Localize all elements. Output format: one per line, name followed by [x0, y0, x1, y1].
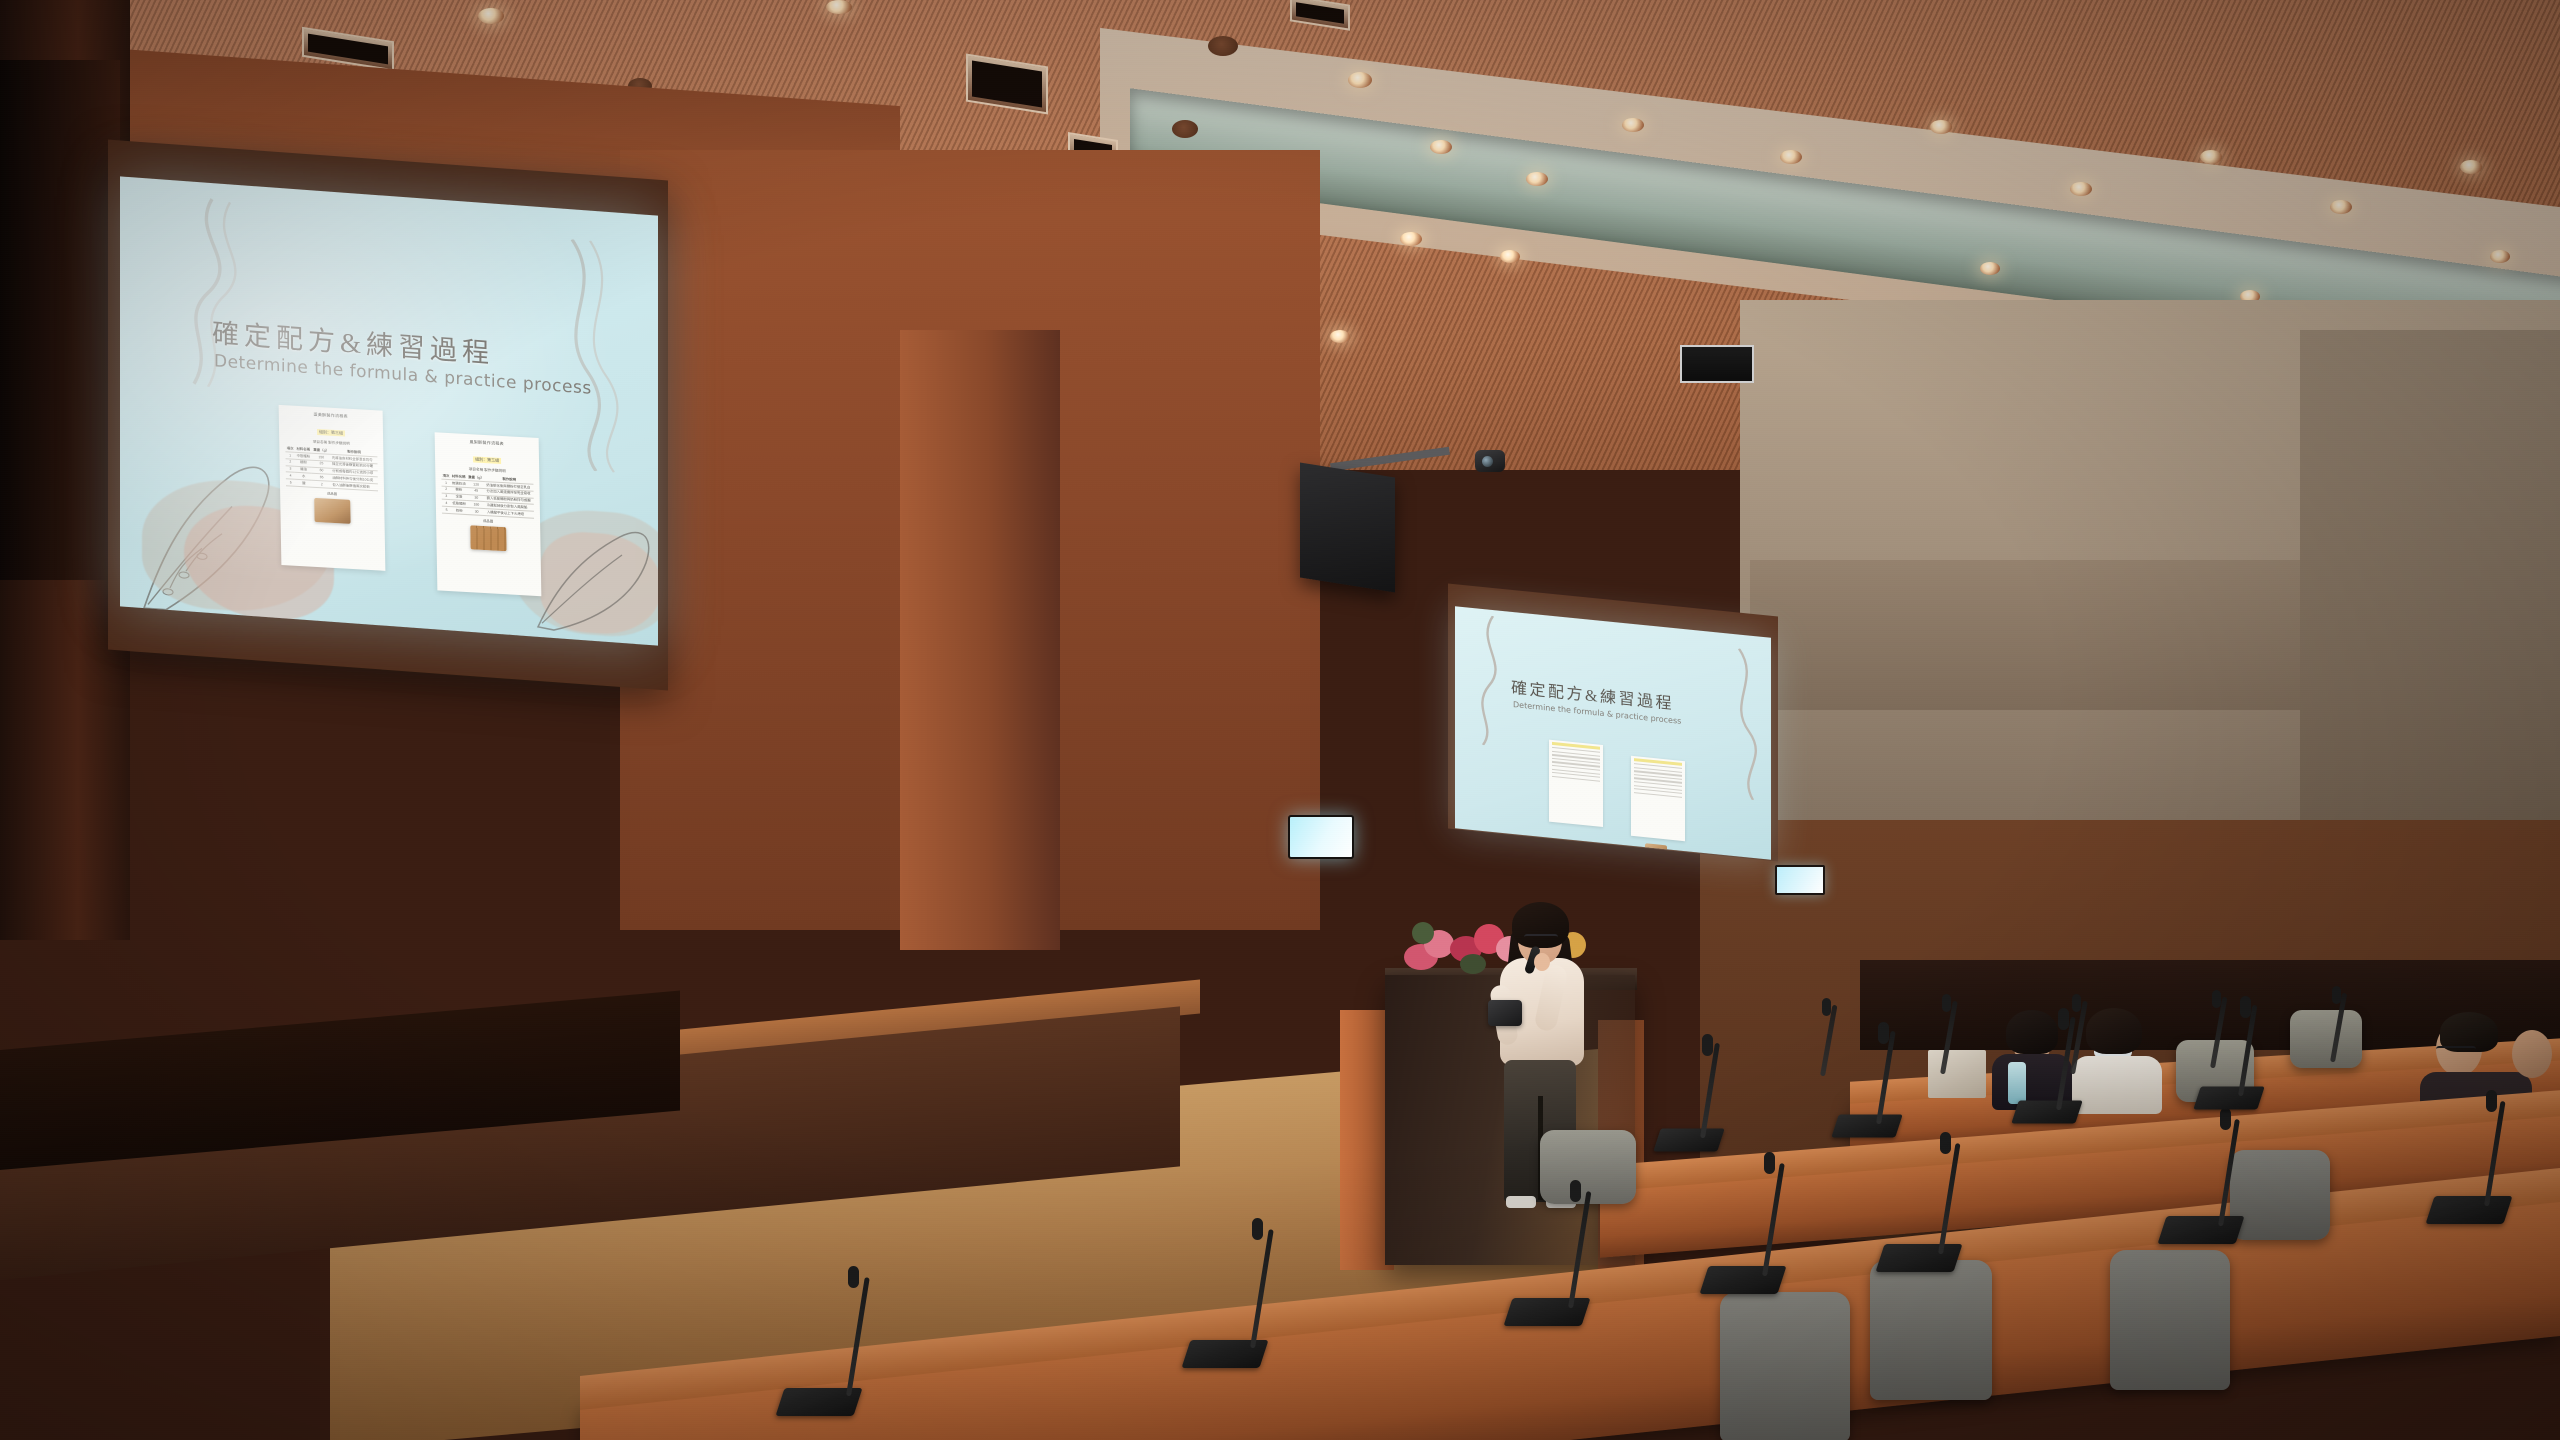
mic-console[interactable] [1831, 1115, 1902, 1138]
attendee-man-glasses-icon [2436, 1046, 2476, 1057]
presenter-shoe-left [1506, 1196, 1536, 1208]
secondary-recipe-sheet-left [1549, 740, 1603, 827]
microphone-capsule-icon [1878, 1022, 1889, 1044]
microphone-capsule-icon [2220, 1108, 2231, 1130]
ptz-camera-icon [1475, 450, 1505, 472]
water-bottle [2008, 1062, 2026, 1104]
mic-console[interactable] [1653, 1129, 1724, 1152]
ceiling-downlight [1780, 150, 1802, 164]
ceiling-downlight [2200, 150, 2222, 164]
left-wall-panel [0, 60, 120, 580]
presenter-hand [1534, 953, 1550, 971]
ceiling-downlight [1500, 250, 1520, 263]
monstera-leaf-outline-icon [528, 512, 658, 641]
recipe-sheet-right: 鳳梨酥製作流程表 組別：第三組 項目名稱 製作步驟說明 項次材料名稱重量（g）製… [435, 432, 542, 596]
ceiling-downlight [1430, 140, 1452, 154]
microphone-capsule-icon [2072, 994, 2081, 1012]
ceiling-downlight [826, 0, 852, 14]
attendee-masked-hair [2086, 1008, 2142, 1054]
microphone-capsule-icon [2486, 1090, 2497, 1112]
mic-console[interactable] [2157, 1216, 2244, 1244]
ceiling-downlight [2070, 182, 2092, 196]
attendee-bag [1928, 1050, 1986, 1098]
pastry-photo-right [470, 525, 506, 551]
wavy-line-ribbon-icon [532, 236, 652, 475]
main-projection-screen[interactable]: 確定配方&練習過程 Determine the formula & practi… [120, 176, 658, 645]
recipe-sheet-left: 蛋黃酥製作流程表 組別：第三組 項目名稱 製作步驟說明 項次材料名稱重量（g）製… [279, 405, 386, 571]
ceiling-downlight [1980, 262, 2000, 275]
slide-content: 確定配方&練習過程 Determine the formula & practi… [120, 176, 658, 645]
ceiling-speaker [1300, 462, 1395, 592]
ceiling-vent [1680, 345, 1754, 383]
wall-preview-monitor-secondary[interactable] [1775, 865, 1825, 895]
mic-console[interactable] [2011, 1101, 2082, 1124]
ceiling-downlight [1172, 120, 1198, 138]
ceiling-downlight [478, 8, 504, 24]
mic-console[interactable] [2425, 1196, 2512, 1224]
ceiling-downlight [1400, 232, 1422, 246]
audience-chair[interactable] [2110, 1250, 2230, 1390]
center-pillar [900, 330, 1060, 950]
recipe-table-left: 項次材料名稱重量（g）製作說明1中筋麵粉150先將油皮材料全部混合均勻2糖粉25… [285, 445, 378, 491]
table-cell: 鹽 [295, 480, 312, 488]
ceiling-downlight [1622, 118, 1644, 132]
ceiling-downlight [1330, 330, 1350, 343]
microphone-capsule-icon [1252, 1218, 1263, 1240]
recipe-table-right: 項次材料名稱重量（g）製作說明1無鹽奶油120奶油軟化後與糖粉打發至乳白2糖粉4… [441, 473, 534, 519]
mic-console[interactable] [1699, 1266, 1786, 1294]
ceiling-downlight [2460, 160, 2482, 174]
table-cell: 包入油酥後擀捲兩次鬆弛 [331, 482, 378, 491]
wavy-line-ribbon-icon [1717, 646, 1771, 802]
presenter-glasses-icon [1524, 934, 1558, 945]
mic-console[interactable] [1875, 1244, 1962, 1272]
attendee-child [2512, 1030, 2552, 1078]
auditorium-scene: 確定配方&練習過程 Determine the formula & practi… [0, 0, 2560, 1440]
doc-tag-right: 組別：第三組 [473, 456, 501, 464]
far-right-wall [2300, 330, 2560, 890]
microphone-capsule-icon [1702, 1034, 1713, 1056]
clicker-device-icon [1488, 1000, 1522, 1026]
ceiling-downlight [1930, 120, 1952, 134]
ceiling-downlight [1526, 172, 1548, 186]
microphone-capsule-icon [1822, 998, 1831, 1016]
audience-chair[interactable] [1870, 1260, 1992, 1400]
ceiling-downlight [2490, 250, 2510, 263]
microphone-capsule-icon [1942, 994, 1951, 1012]
audience-chair[interactable] [1720, 1292, 1850, 1440]
microphone-capsule-icon [2212, 990, 2221, 1008]
secondary-pastry-photo [1645, 843, 1667, 860]
ceiling-downlight [1208, 36, 1238, 56]
table-cell: 30 [467, 508, 486, 516]
table-cell: 入模壓平後以上下火烤焙 [486, 509, 534, 519]
pastry-photo-left [314, 498, 350, 524]
secondary-projection-screen[interactable]: 確定配方&練習過程 Determine the formula & practi… [1455, 606, 1771, 860]
audience-chair[interactable] [2290, 1010, 2362, 1068]
microphone-capsule-icon [2332, 986, 2341, 1004]
table-cell: 5 [442, 506, 451, 513]
wall-preview-monitor[interactable] [1288, 815, 1354, 859]
doc-tag-left: 組別：第三組 [317, 429, 345, 437]
microphone-capsule-icon [848, 1266, 859, 1288]
attendee-smiling-dark-hair-hair [2006, 1010, 2058, 1054]
microphone-capsule-icon [2058, 1008, 2069, 1030]
microphone-capsule-icon [1764, 1152, 1775, 1174]
audience-chair[interactable] [2230, 1150, 2330, 1240]
microphone-capsule-icon [1570, 1180, 1581, 1202]
microphone-capsule-icon [2240, 996, 2251, 1018]
mic-console[interactable] [2193, 1087, 2264, 1110]
table-cell: 2 [312, 480, 331, 488]
table-cell: 奶粉 [451, 507, 467, 515]
ceiling-downlight [2330, 200, 2352, 214]
secondary-recipe-sheet-right [1631, 756, 1685, 841]
table-cell: 5 [286, 479, 296, 486]
ceiling-downlight [1348, 72, 1372, 88]
microphone-capsule-icon [1940, 1132, 1951, 1154]
attendee-masked-white-top-body [2072, 1056, 2162, 1114]
mic-console[interactable] [1503, 1298, 1590, 1326]
